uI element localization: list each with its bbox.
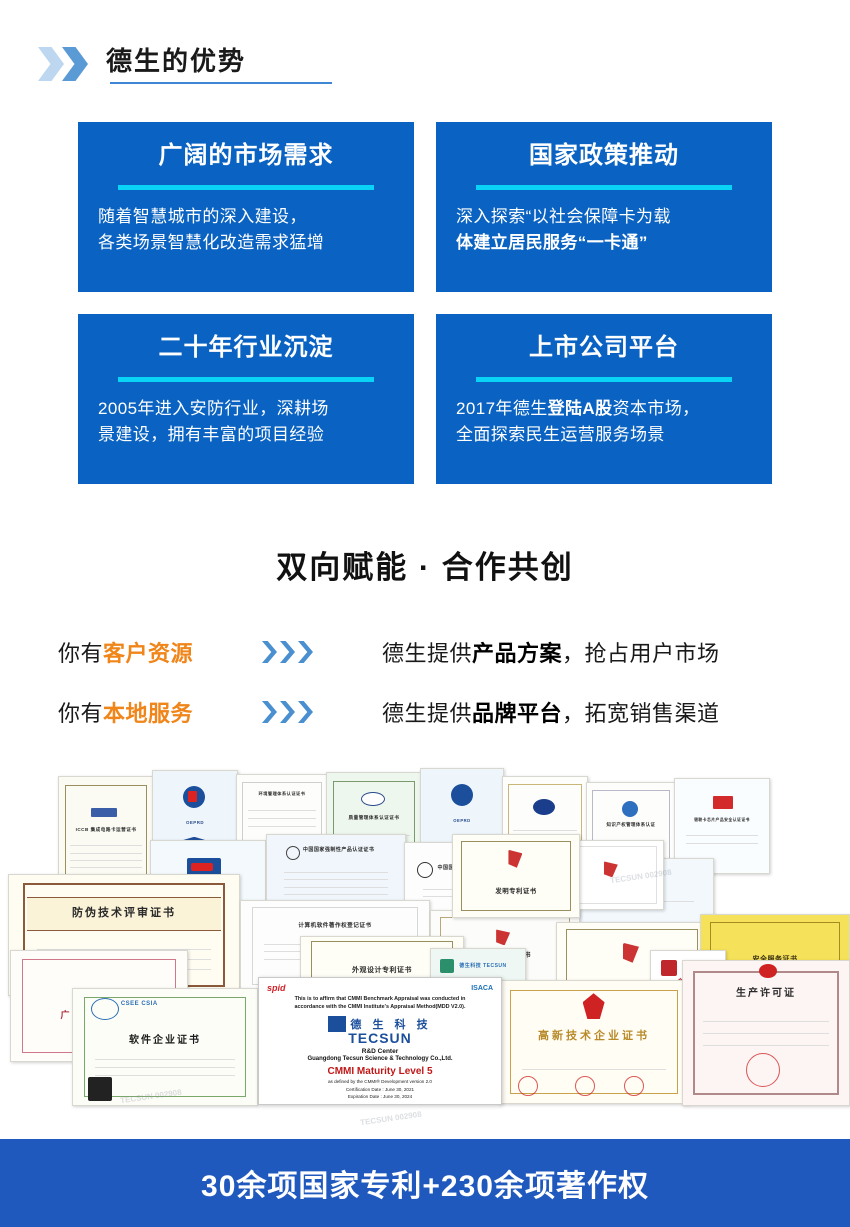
certificate-label: 生产许可证 [683,984,849,999]
card-title: 二十年行业沉淀 [159,334,334,363]
empower-right-bold: 品牌平台 [472,701,562,726]
certificate-thumb: 生产许可证 [682,960,850,1106]
arrows-right-icon [262,641,382,663]
chevron-right-icon-dark [62,47,88,81]
certificate-label: 防伪技术评审证书 [9,904,239,920]
card-body-line: 全面探索民生运营服务场景 [456,422,752,448]
certificate-label: ICCB 集成电路卡运营证书 [59,827,153,833]
advantage-card-experience: 二十年行业沉淀 2005年进入安防行业，深耕场 景建设，拥有丰富的项目经验 [78,314,414,484]
card-body-line: 各类场景智慧化改造需求猛增 [98,230,394,256]
chevron-right-icon [298,641,313,663]
tecsun-mark-icon [328,1016,346,1032]
chevron-right-icon [280,641,295,663]
empower-section-title: 双向赋能 · 合作共创 [0,542,850,587]
certificate-thumb: CSEE CSIA 软件企业证书 [72,988,258,1106]
cmmi-cert-date: Certification Date : June 30, 2021 [267,1087,493,1094]
card-body-line: 体建立居民服务“一卡通” [456,230,752,256]
card-body-line: 2005年进入安防行业，深耕场 [98,396,394,422]
page-title: 德生的优势 [106,48,246,80]
brand-name-en: TECSUN [267,1030,493,1046]
empower-right-post: ，拓宽销售渠道 [562,701,720,726]
certificate-thumb: 发明专利证书 [452,834,580,918]
header-chevrons [38,47,88,81]
cmmi-header: spid ISACA [267,983,493,993]
empower-row-right: 德生提供品牌平台，拓宽销售渠道 [382,696,720,728]
card-body: 2005年进入安防行业，深耕场 景建设，拥有丰富的项目经验 [94,396,398,449]
certificate-label: 银联卡芯片产品安全认证证书 [675,818,769,823]
empower-row-left: 你有本地服务 [58,696,258,728]
empower-row-left: 你有客户资源 [58,636,258,668]
cmmi-certificate: spid ISACA This is to affirm that CMMI B… [258,977,502,1105]
card-divider [476,185,731,190]
card-divider [118,377,373,382]
cmmi-statement-line2: accordance with the CMMI Institute's App… [267,1004,493,1012]
cmmi-defined-by: as defined by the CMMI® Development vers… [267,1079,493,1084]
advantage-card-market: 广阔的市场需求 随着智慧城市的深入建设， 各类场景智慧化改造需求猛增 [78,122,414,292]
cmmi-level: CMMI Maturity Level 5 [267,1066,493,1077]
empower-row-customer: 你有客户资源 德生提供产品方案，抢占用户市场 [0,628,850,676]
advantage-card-grid: 广阔的市场需求 随着智慧城市的深入建设， 各类场景智慧化改造需求猛增 国家政策推… [78,122,772,484]
arrows-right-icon [262,701,382,723]
cmmi-statement-line1: This is to affirm that CMMI Benchmark Ap… [267,996,493,1004]
spid-logo: spid [267,983,286,993]
card-divider [476,377,731,382]
card-body: 2017年德生登陆A股资本市场， 全面探索民生运营服务场景 [452,396,756,449]
card-body-line: 景建设，拥有丰富的项目经验 [98,422,394,448]
card-divider [118,185,373,190]
certificate-label: 软件企业证书 [73,1031,257,1046]
card-body-line: 随着智慧城市的深入建设， [98,204,394,230]
chevron-right-icon [262,701,277,723]
certificate-collage: ICCB 集成电路卡运营证书 OEPRD 环境管理体系认证证书 职业健康安全管理… [0,762,850,1140]
card-body-line: 2017年德生登陆A股资本市场， [456,396,752,422]
chevron-right-icon [280,701,295,723]
page-root: 德生的优势 广阔的市场需求 随着智慧城市的深入建设， 各类场景智慧化改造需求猛增… [0,0,850,1227]
empower-left-pre: 你有 [58,641,103,666]
chevron-right-icon [262,641,277,663]
card-body-line: 深入探索“以社会保障卡为载 [456,204,752,230]
chevron-right-icon [298,701,313,723]
chevron-right-icon-light [38,47,64,81]
watermark: TECSUN 002908 [360,1110,422,1128]
card-body-emphasis: 登陆A股 [548,399,613,418]
certificate-label: 质量管理体系认证证书 [327,815,421,821]
card-title: 国家政策推动 [529,142,679,171]
certificate-label: 中国国家强制性产品认证证书 [303,846,405,853]
empower-left-pre: 你有 [58,701,103,726]
title-underline [110,82,332,84]
patents-banner-text: 30余项国家专利+230余项著作权 [201,1161,649,1205]
card-body: 随着智慧城市的深入建设， 各类场景智慧化改造需求猛增 [94,204,398,257]
empower-row-right: 德生提供产品方案，抢占用户市场 [382,636,720,668]
isaca-logo: ISACA [471,985,493,992]
empower-right-post: ，抢占用户市场 [562,641,720,666]
empower-left-highlight: 客户资源 [103,641,193,666]
empower-row-local-service: 你有本地服务 德生提供品牌平台，拓宽销售渠道 [0,688,850,736]
empower-left-highlight: 本地服务 [103,701,193,726]
empower-right-pre: 德生提供 [382,701,472,726]
certificate-label: 德生科技 TECSUN [459,962,525,969]
patents-banner: 30余项国家专利+230余项著作权 [0,1139,850,1227]
certificate-thumb: 高新技术企业证书 [498,980,690,1104]
empower-rows: 你有客户资源 德生提供产品方案，抢占用户市场 你有本地服务 德生提供品牌平台，拓… [0,628,850,748]
certificate-label: 计算机软件著作权登记证书 [241,921,429,929]
card-body-post: 资本市场， [613,399,700,418]
card-body-pre: 2017年德生 [456,399,548,418]
card-body: 深入探索“以社会保障卡为载 体建立居民服务“一卡通” [452,204,756,257]
advantage-card-policy: 国家政策推动 深入探索“以社会保障卡为载 体建立居民服务“一卡通” [436,122,772,292]
cmmi-company: Guangdong Tecsun Science & Technology Co… [267,1056,493,1062]
certificate-label: 知识产权管理体系认证 [587,822,675,828]
cmmi-exp-date: Expiration Date : June 30, 2024 [267,1094,493,1101]
advantage-card-listed: 上市公司平台 2017年德生登陆A股资本市场， 全面探索民生运营服务场景 [436,314,772,484]
card-title: 上市公司平台 [529,334,679,363]
empower-right-pre: 德生提供 [382,641,472,666]
cmmi-division: R&D Center [267,1048,493,1055]
certificate-label: 高新技术企业证书 [499,1027,689,1043]
card-title: 广阔的市场需求 [159,142,334,171]
empower-right-bold: 产品方案 [472,641,562,666]
certificate-label: CSEE CSIA [121,1001,257,1007]
certificate-label: 发明专利证书 [453,886,579,895]
certificate-label: 环境管理体系认证证书 [237,791,327,797]
